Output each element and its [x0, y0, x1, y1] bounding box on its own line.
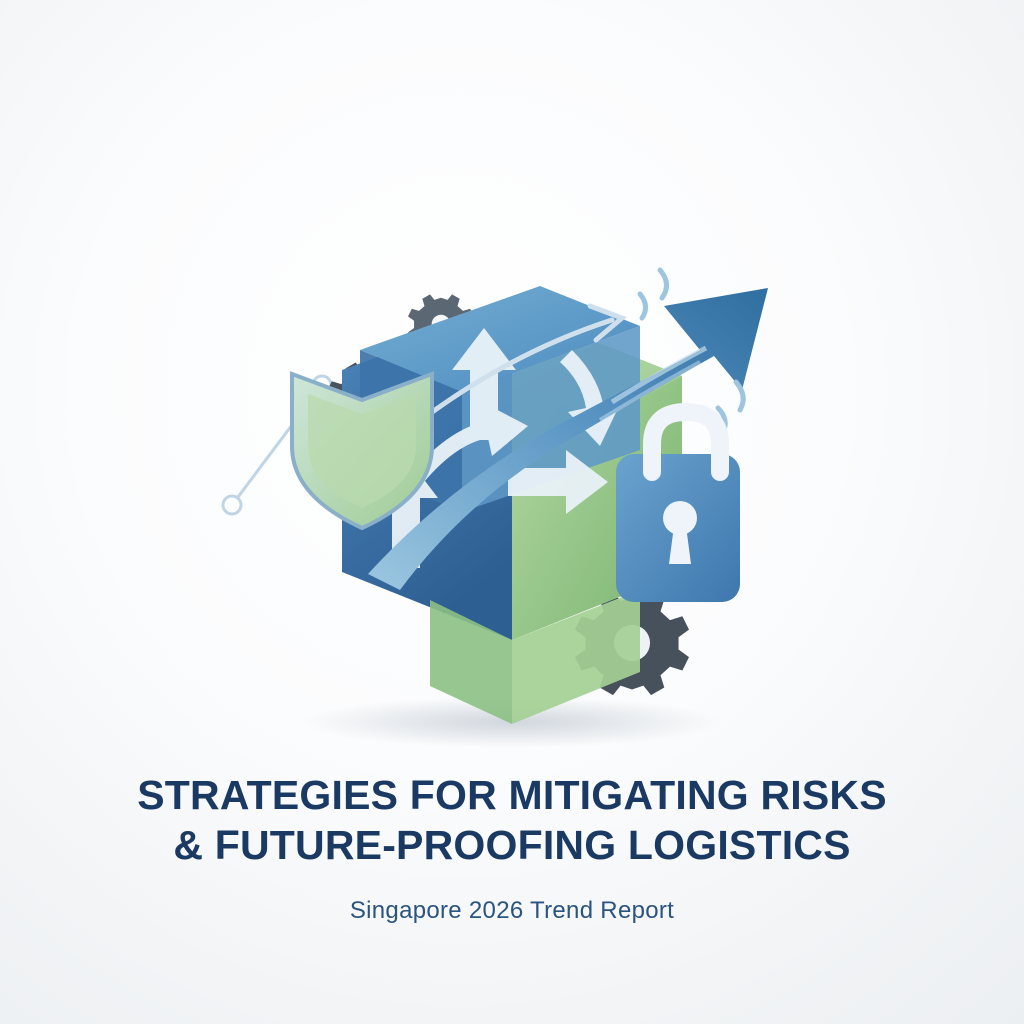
poster-canvas: Strategies for Mitigating Risks & Future… [0, 0, 1024, 1024]
page-title-line-2: & Future-Proofing Logistics [0, 820, 1024, 870]
artwork-stage [0, 120, 1024, 760]
isometric-logistics-cube-illustration [0, 120, 1024, 760]
page-title-line-1: Strategies for Mitigating Risks [0, 770, 1024, 820]
page-subtitle: Singapore 2026 Trend Report [0, 897, 1024, 925]
caption-block: Strategies for Mitigating Risks & Future… [0, 770, 1024, 925]
